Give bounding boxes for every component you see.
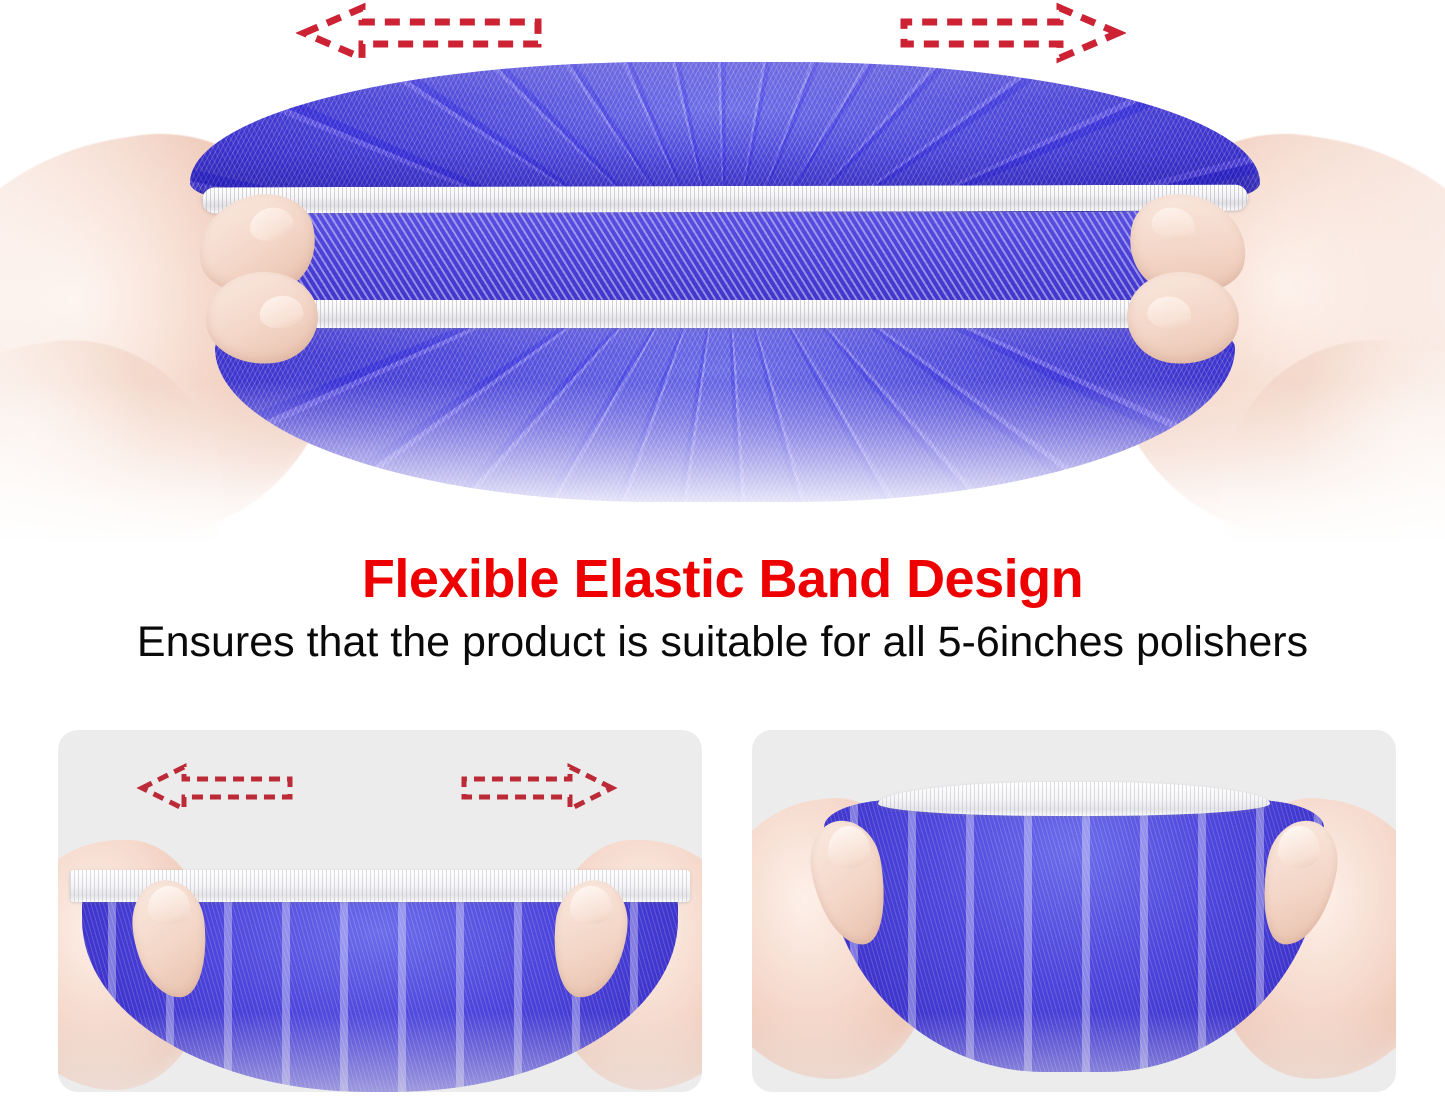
panel-relaxed-demo bbox=[752, 730, 1396, 1092]
arrow-left-icon bbox=[296, 2, 546, 64]
elastic-band-lower bbox=[228, 300, 1228, 328]
page-title: Flexible Elastic Band Design bbox=[0, 552, 1445, 606]
panel-arrow-left-icon bbox=[136, 762, 296, 814]
fingernail bbox=[1148, 203, 1198, 245]
fingernail bbox=[1278, 826, 1320, 868]
panel-stretch-demo bbox=[58, 730, 702, 1092]
fingernail bbox=[246, 203, 296, 245]
fingernail bbox=[1146, 294, 1193, 330]
elastic-band-upper bbox=[202, 185, 1248, 214]
arrow-right-icon bbox=[896, 2, 1126, 64]
elastic-band bbox=[878, 782, 1270, 816]
hero-product-image bbox=[0, 0, 1445, 545]
fingernail bbox=[570, 886, 612, 924]
fingernail bbox=[258, 294, 305, 330]
panel-arrow-right-icon bbox=[458, 762, 618, 814]
fingernail bbox=[828, 826, 870, 868]
microfiber-pad-bottom bbox=[215, 312, 1235, 502]
fingernail bbox=[148, 886, 190, 924]
page-subtitle: Ensures that the product is suitable for… bbox=[0, 620, 1445, 665]
